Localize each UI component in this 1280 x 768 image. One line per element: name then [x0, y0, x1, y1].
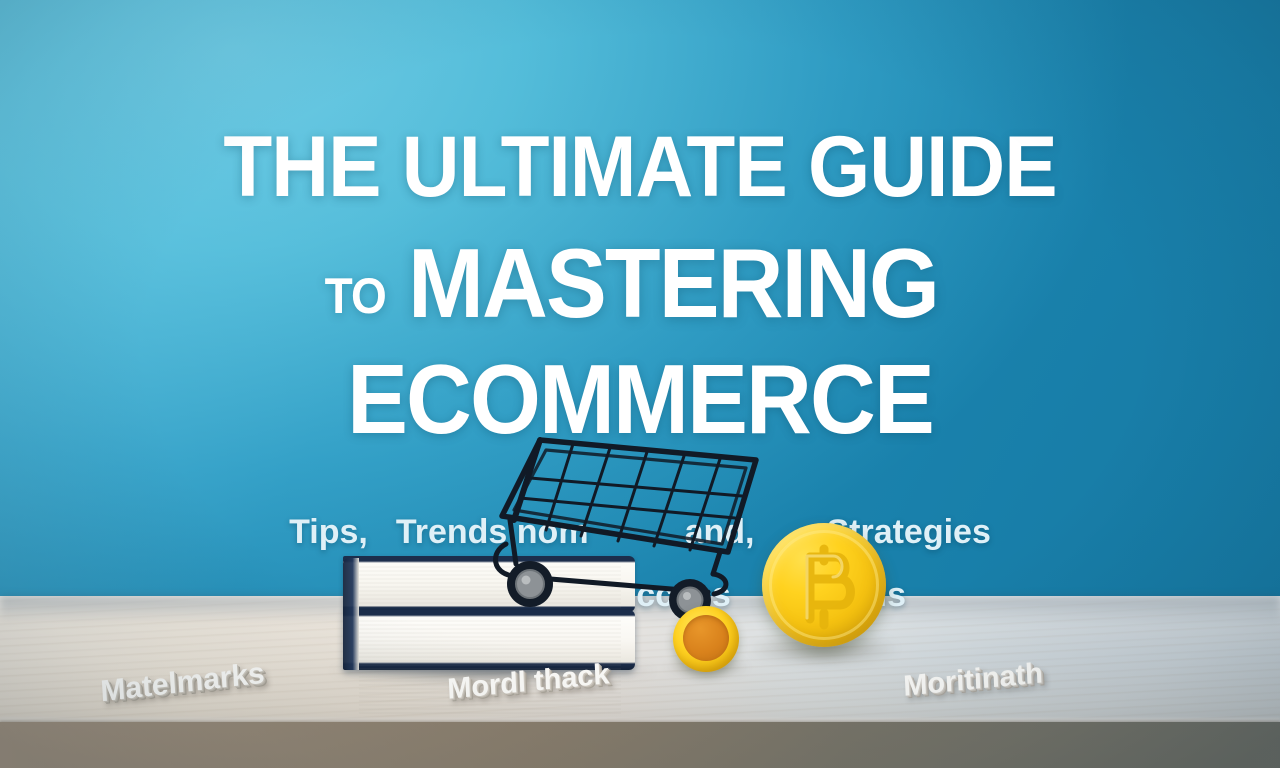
- cart-wheel-front: [507, 561, 553, 607]
- shopping-cart: [470, 424, 770, 620]
- poster-canvas: THE ULTIMATE GUIDE TOMASTERING ECOMMERCE…: [0, 0, 1280, 768]
- book-spine: [343, 558, 359, 670]
- small-orange-coin: [673, 606, 739, 672]
- table-front-edge: [0, 722, 1280, 768]
- bitcoin-symbol-icon: [762, 523, 886, 647]
- shopping-cart-icon: [470, 424, 770, 620]
- gold-bitcoin-coin: [762, 523, 886, 647]
- coin-face: [683, 615, 729, 661]
